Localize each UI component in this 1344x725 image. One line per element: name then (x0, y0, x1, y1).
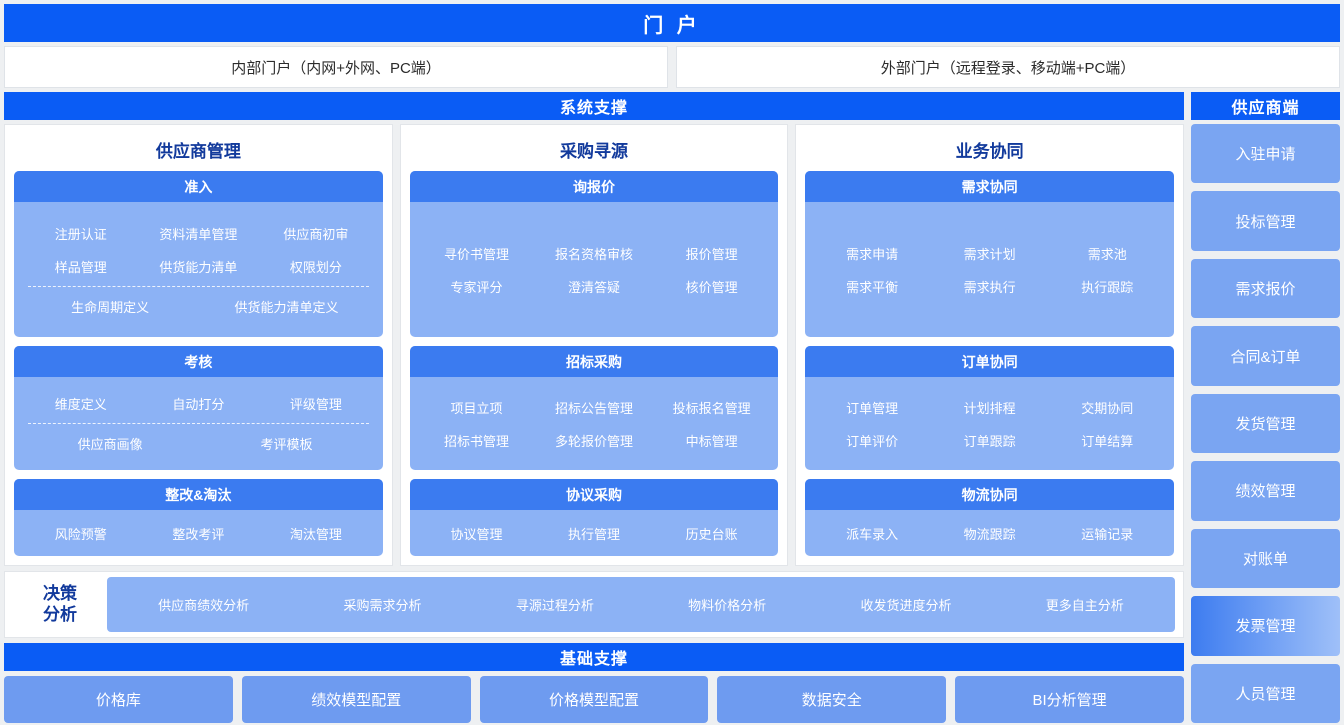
module-item[interactable]: 订单管理 (813, 393, 931, 422)
base-support-area: 基础支撑 价格库 绩效模型配置 价格模型配置 数据安全 BI分析管理 (4, 643, 1184, 723)
portal-cells-row: 内部门户（内网+外网、PC端） 外部门户（远程登录、移动端+PC端） (4, 46, 1340, 88)
supplier-rail-item-onboarding[interactable]: 入驻申请 (1191, 124, 1340, 183)
decision-analysis-label-line2: 分析 (13, 605, 107, 625)
supplier-rail-item-invoice[interactable]: 发票管理 (1191, 596, 1340, 655)
module-item[interactable]: 需求申请 (813, 239, 931, 268)
column-title-sourcing: 采购寻源 (410, 131, 779, 171)
group-row: 供应商画像 考评模板 (22, 429, 375, 458)
module-item[interactable]: 多轮报价管理 (535, 426, 653, 455)
group-divider (28, 423, 369, 424)
base-support-item[interactable]: 绩效模型配置 (242, 676, 471, 723)
column-title-supplier-management: 供应商管理 (14, 131, 383, 171)
group-head-bidding-procurement: 招标采购 (410, 346, 779, 377)
module-item[interactable]: 订单结算 (1048, 426, 1166, 455)
decision-analysis-item[interactable]: 更多自主分析 (1040, 591, 1130, 618)
group-body-bidding-procurement: 项目立项 招标公告管理 投标报名管理 招标书管理 多轮报价管理 中标管理 (410, 377, 779, 470)
module-item[interactable]: 需求计划 (931, 239, 1049, 268)
group-body-logistics-collaboration: 派车录入 物流跟踪 运输记录 (805, 510, 1174, 556)
group-order-collaboration: 订单协同 订单管理 计划排程 交期协同 订单评价 订单跟踪 (805, 346, 1174, 470)
base-support-item[interactable]: BI分析管理 (955, 676, 1184, 723)
decision-analysis-item[interactable]: 寻源过程分析 (510, 591, 600, 618)
module-item[interactable]: 注册认证 (22, 219, 140, 248)
supplier-rail-item-contract-order[interactable]: 合同&订单 (1191, 326, 1340, 385)
supplier-rail-item-statement[interactable]: 对账单 (1191, 529, 1340, 588)
column-supplier-management: 供应商管理 准入 注册认证 资料清单管理 供应商初审 (4, 124, 393, 566)
group-access: 准入 注册认证 资料清单管理 供应商初审 样品管理 供货能力清单 (14, 171, 383, 337)
group-rectify-eliminate: 整改&淘汰 风险预警 整改考评 淘汰管理 (14, 479, 383, 556)
column-business-collaboration: 业务协同 需求协同 需求申请 需求计划 需求池 (795, 124, 1184, 566)
column-groups-business-collaboration: 需求协同 需求申请 需求计划 需求池 需求平衡 需求执行 (805, 171, 1174, 556)
base-support-item[interactable]: 数据安全 (717, 676, 946, 723)
module-item[interactable]: 样品管理 (22, 252, 140, 281)
module-item[interactable]: 需求执行 (931, 272, 1049, 301)
group-row: 专家评分 澄清答疑 核价管理 (418, 272, 771, 301)
group-row: 注册认证 资料清单管理 供应商初审 (22, 219, 375, 248)
module-item[interactable]: 生命周期定义 (22, 292, 198, 321)
base-support-title-bar: 基础支撑 (4, 643, 1184, 671)
group-row: 订单管理 计划排程 交期协同 (813, 393, 1166, 422)
module-item[interactable]: 淘汰管理 (257, 519, 375, 548)
group-body-demand-collaboration: 需求申请 需求计划 需求池 需求平衡 需求执行 执行跟踪 (805, 202, 1174, 337)
group-row: 风险预警 整改考评 淘汰管理 (22, 519, 375, 548)
group-row: 项目立项 招标公告管理 投标报名管理 (418, 393, 771, 422)
decision-analysis-item[interactable]: 收发货进度分析 (854, 591, 957, 618)
module-item[interactable]: 报名资格审核 (535, 239, 653, 268)
base-support-item[interactable]: 价格模型配置 (480, 676, 709, 723)
portal-cell-external-label: 外部门户（远程登录、移动端+PC端） (881, 57, 1136, 78)
module-item[interactable]: 供货能力清单 (140, 252, 258, 281)
main-body: 系统支撑 供应商管理 准入 注册认证 资料清单管理 供应商初审 (4, 92, 1340, 723)
group-row: 需求平衡 需求执行 执行跟踪 (813, 272, 1166, 301)
decision-analysis-strip: 决策 分析 供应商绩效分析 采购需求分析 寻源过程分析 物料价格分析 收发货进度… (4, 571, 1184, 638)
portal-cell-external[interactable]: 外部门户（远程登录、移动端+PC端） (676, 46, 1340, 88)
group-head-logistics-collaboration: 物流协同 (805, 479, 1174, 510)
group-head-order-collaboration: 订单协同 (805, 346, 1174, 377)
supplier-portal-rail: 供应商端 入驻申请 投标管理 需求报价 合同&订单 发货管理 绩效管理 对账单 … (1191, 92, 1340, 723)
group-row: 生命周期定义 供货能力清单定义 (22, 292, 375, 321)
module-item[interactable]: 订单跟踪 (931, 426, 1049, 455)
system-support-columns: 供应商管理 准入 注册认证 资料清单管理 供应商初审 (4, 124, 1184, 566)
column-sourcing: 采购寻源 询报价 寻价书管理 报名资格审核 报价管理 (400, 124, 789, 566)
group-head-inquiry-quotation: 询报价 (410, 171, 779, 202)
module-item[interactable]: 项目立项 (418, 393, 536, 422)
group-body-agreement-procurement: 协议管理 执行管理 历史台账 (410, 510, 779, 556)
module-item[interactable]: 权限划分 (257, 252, 375, 281)
module-item[interactable]: 交期协同 (1048, 393, 1166, 422)
group-body-assessment: 维度定义 自动打分 评级管理 供应商画像 考评模板 (14, 377, 383, 470)
group-body-rectify-eliminate: 风险预警 整改考评 淘汰管理 (14, 510, 383, 556)
module-item[interactable]: 供应商画像 (22, 429, 198, 458)
portal-cell-internal-label: 内部门户（内网+外网、PC端） (231, 57, 441, 78)
module-item[interactable]: 协议管理 (418, 519, 536, 548)
group-head-rectify-eliminate: 整改&淘汰 (14, 479, 383, 510)
group-row: 订单评价 订单跟踪 订单结算 (813, 426, 1166, 455)
portal-title-text: 门 户 (643, 9, 701, 38)
decision-analysis-items: 供应商绩效分析 采购需求分析 寻源过程分析 物料价格分析 收发货进度分析 更多自… (107, 577, 1175, 632)
group-head-assessment: 考核 (14, 346, 383, 377)
module-item[interactable]: 订单评价 (813, 426, 931, 455)
group-body-access: 注册认证 资料清单管理 供应商初审 样品管理 供货能力清单 权限划分 (14, 202, 383, 337)
module-item[interactable]: 计划排程 (931, 393, 1049, 422)
module-item[interactable]: 澄清答疑 (535, 272, 653, 301)
decision-analysis-label-line1: 决策 (13, 584, 107, 604)
base-support-items: 价格库 绩效模型配置 价格模型配置 数据安全 BI分析管理 (4, 676, 1184, 723)
group-row: 协议管理 执行管理 历史台账 (418, 519, 771, 548)
module-item[interactable]: 需求池 (1048, 239, 1166, 268)
portal-title-bar: 门 户 (4, 4, 1340, 42)
group-row: 维度定义 自动打分 评级管理 (22, 389, 375, 418)
base-support-title-text: 基础支撑 (560, 645, 628, 669)
decision-analysis-item[interactable]: 采购需求分析 (337, 591, 427, 618)
group-assessment: 考核 维度定义 自动打分 评级管理 供应商画像 考评模 (14, 346, 383, 470)
column-title-business-collaboration: 业务协同 (805, 131, 1174, 171)
group-agreement-procurement: 协议采购 协议管理 执行管理 历史台账 (410, 479, 779, 556)
column-groups-sourcing: 询报价 寻价书管理 报名资格审核 报价管理 专家评分 澄清答疑 (410, 171, 779, 556)
system-support-title-bar: 系统支撑 (4, 92, 1184, 120)
group-head-demand-collaboration: 需求协同 (805, 171, 1174, 202)
group-row: 招标书管理 多轮报价管理 中标管理 (418, 426, 771, 455)
module-item[interactable]: 执行管理 (535, 519, 653, 548)
column-groups-supplier-management: 准入 注册认证 资料清单管理 供应商初审 样品管理 供货能力清单 (14, 171, 383, 556)
module-item[interactable]: 需求平衡 (813, 272, 931, 301)
module-item[interactable]: 运输记录 (1048, 519, 1166, 548)
group-row: 样品管理 供货能力清单 权限划分 (22, 252, 375, 281)
group-head-access: 准入 (14, 171, 383, 202)
group-demand-collaboration: 需求协同 需求申请 需求计划 需求池 需求平衡 需求执行 (805, 171, 1174, 337)
group-logistics-collaboration: 物流协同 派车录入 物流跟踪 运输记录 (805, 479, 1174, 556)
supplier-rail-item-performance[interactable]: 绩效管理 (1191, 461, 1340, 520)
module-item[interactable]: 投标报名管理 (653, 393, 771, 422)
module-item[interactable]: 物流跟踪 (931, 519, 1049, 548)
module-item[interactable]: 招标书管理 (418, 426, 536, 455)
system-support-title-text: 系统支撑 (560, 94, 628, 118)
supplier-rail-title-text: 供应商端 (1231, 94, 1299, 118)
supplier-rail-item-bidding[interactable]: 投标管理 (1191, 191, 1340, 250)
supplier-rail-title-bar: 供应商端 (1191, 92, 1340, 120)
module-item[interactable]: 历史台账 (653, 519, 771, 548)
group-row: 寻价书管理 报名资格审核 报价管理 (418, 239, 771, 268)
module-item[interactable]: 评级管理 (257, 389, 375, 418)
module-item[interactable]: 自动打分 (140, 389, 258, 418)
supplier-rail-item-demand-quote[interactable]: 需求报价 (1191, 259, 1340, 318)
supplier-rail-items: 入驻申请 投标管理 需求报价 合同&订单 发货管理 绩效管理 对账单 发票管理 … (1191, 124, 1340, 723)
group-inquiry-quotation: 询报价 寻价书管理 报名资格审核 报价管理 专家评分 澄清答疑 (410, 171, 779, 337)
supplier-rail-item-personnel[interactable]: 人员管理 (1191, 664, 1340, 723)
group-bidding-procurement: 招标采购 项目立项 招标公告管理 投标报名管理 招标书管理 多轮报价管理 (410, 346, 779, 470)
module-item[interactable]: 执行跟踪 (1048, 272, 1166, 301)
module-item[interactable]: 整改考评 (140, 519, 258, 548)
module-item[interactable]: 寻价书管理 (418, 239, 536, 268)
decision-analysis-label: 决策 分析 (13, 584, 107, 624)
base-support-item[interactable]: 价格库 (4, 676, 233, 723)
supplier-rail-item-shipping[interactable]: 发货管理 (1191, 394, 1340, 453)
portal-architecture-diagram: 门 户 内部门户（内网+外网、PC端） 外部门户（远程登录、移动端+PC端） 系… (0, 0, 1344, 725)
group-body-order-collaboration: 订单管理 计划排程 交期协同 订单评价 订单跟踪 订单结算 (805, 377, 1174, 470)
group-head-agreement-procurement: 协议采购 (410, 479, 779, 510)
decision-analysis-item[interactable]: 供应商绩效分析 (152, 591, 255, 618)
module-item[interactable]: 考评模板 (198, 429, 374, 458)
portal-cell-internal[interactable]: 内部门户（内网+外网、PC端） (4, 46, 668, 88)
module-item[interactable]: 资料清单管理 (140, 219, 258, 248)
module-item[interactable]: 核价管理 (653, 272, 771, 301)
group-row: 派车录入 物流跟踪 运输记录 (813, 519, 1166, 548)
module-item[interactable]: 维度定义 (22, 389, 140, 418)
module-item[interactable]: 供应商初审 (257, 219, 375, 248)
module-item[interactable]: 派车录入 (813, 519, 931, 548)
module-item[interactable]: 中标管理 (653, 426, 771, 455)
decision-analysis-item[interactable]: 物料价格分析 (682, 591, 772, 618)
group-row: 需求申请 需求计划 需求池 (813, 239, 1166, 268)
module-item[interactable]: 供货能力清单定义 (198, 292, 374, 321)
system-support-area: 系统支撑 供应商管理 准入 注册认证 资料清单管理 供应商初审 (4, 92, 1184, 723)
module-item[interactable]: 风险预警 (22, 519, 140, 548)
module-item[interactable]: 报价管理 (653, 239, 771, 268)
group-body-inquiry-quotation: 寻价书管理 报名资格审核 报价管理 专家评分 澄清答疑 核价管理 (410, 202, 779, 337)
group-divider (28, 286, 369, 287)
module-item[interactable]: 专家评分 (418, 272, 536, 301)
module-item[interactable]: 招标公告管理 (535, 393, 653, 422)
